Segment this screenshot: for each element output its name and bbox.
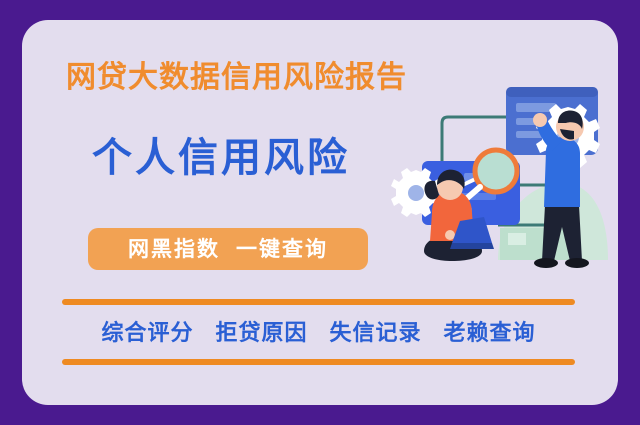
feature-item-deadbeat-query[interactable]: 老赖查询 bbox=[444, 322, 536, 344]
feature-divider-bottom bbox=[62, 359, 575, 365]
cta-label-query: 一键查询 bbox=[236, 239, 328, 260]
poster-panel: 网贷大数据信用风险报告 个人信用风险 网黑指数 一键查询 综合评分 拒贷原因 失… bbox=[22, 20, 618, 405]
poster-root: 网贷大数据信用风险报告 个人信用风险 网黑指数 一键查询 综合评分 拒贷原因 失… bbox=[0, 0, 640, 425]
cta-label-index: 网黑指数 bbox=[128, 239, 220, 260]
page-subtitle: 个人信用风险 bbox=[92, 138, 350, 178]
feature-item-default-record[interactable]: 失信记录 bbox=[330, 322, 422, 344]
feature-item-rejection-reason[interactable]: 拒贷原因 bbox=[215, 322, 307, 344]
credit-risk-illustration bbox=[380, 65, 618, 305]
feature-item-score[interactable]: 综合评分 bbox=[101, 322, 193, 344]
page-title: 网贷大数据信用风险报告 bbox=[66, 63, 407, 93]
feature-list: 综合评分 拒贷原因 失信记录 老赖查询 bbox=[62, 313, 575, 353]
query-cta-button[interactable]: 网黑指数 一键查询 bbox=[88, 228, 368, 270]
